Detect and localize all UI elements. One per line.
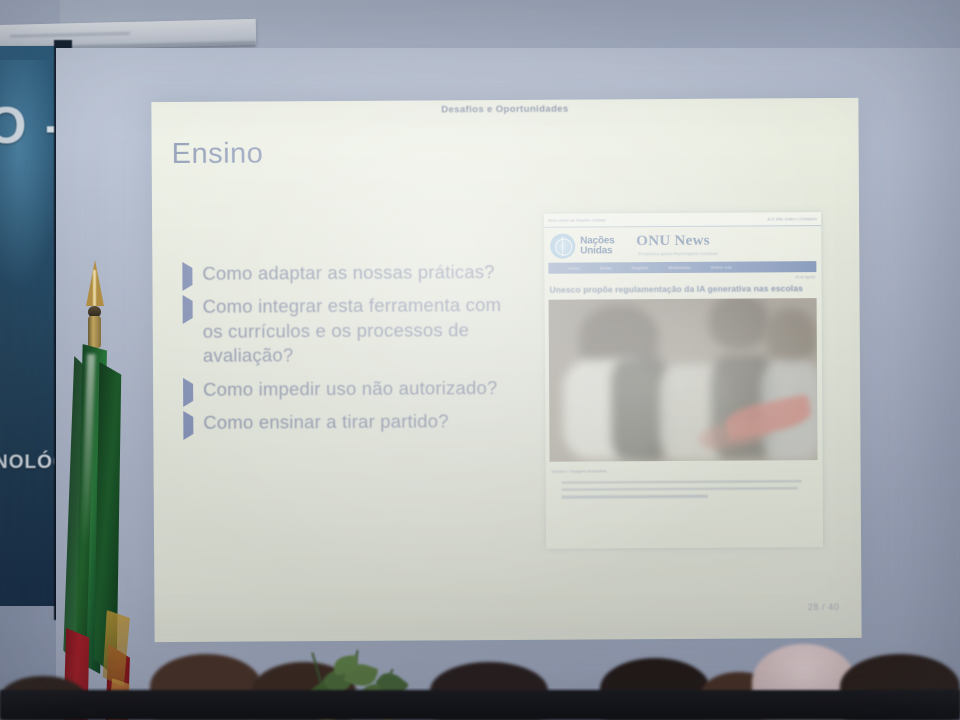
roller-seam	[10, 32, 130, 38]
bullet-text: Como integrar esta ferramenta com os cur…	[203, 293, 513, 368]
un-name-line2: Unidas	[580, 245, 612, 256]
news-site-title: ONU News	[636, 233, 710, 250]
conference-room-photograph: O - NOLÓGI Desafios e Oportunidades Ensi…	[0, 0, 960, 720]
body-line	[562, 480, 802, 484]
un-brand-block: Nações Unidas	[550, 233, 615, 258]
photo-grain	[549, 298, 818, 462]
news-site-tagline: Perspetiva global Reportagens humanas	[638, 251, 718, 256]
audience-seat-row	[0, 690, 960, 720]
news-headline: Unesco propõe regulamentação da IA gener…	[549, 283, 815, 295]
triangle-bullet-icon	[183, 383, 203, 401]
slide-header-text: Desafios e Oportunidades	[151, 102, 858, 117]
un-emblem-icon	[550, 234, 575, 259]
nav-item-inicio: Início	[568, 266, 579, 271]
students-in-classroom-photo	[549, 298, 818, 462]
flag-pole-ferrule	[88, 316, 101, 348]
triangle-bullet-icon	[182, 268, 202, 286]
bullet-text: Como adaptar as nossas práticas?	[202, 260, 494, 286]
bullet-text: Como impedir uso não autorizado?	[203, 376, 497, 402]
list-item: Como integrar esta ferramenta com os cur…	[183, 293, 513, 368]
audience-foreground	[0, 610, 960, 720]
body-line	[562, 487, 798, 491]
triangle-bullet-icon	[183, 417, 203, 435]
list-item: Como adaptar as nossas práticas?	[182, 260, 512, 286]
news-body-text	[562, 480, 802, 503]
finial-highlight	[93, 270, 96, 306]
nav-item-multimedia: Multimédia	[668, 265, 690, 270]
news-utility-links: A-Z Site Index | Contacto	[767, 216, 817, 221]
news-navigation-bar: Início Áreas Regiões Multimédia Sobre nó…	[548, 261, 816, 274]
triangle-bullet-icon	[183, 301, 203, 319]
body-line	[562, 495, 708, 498]
nav-item-sobre-nos: Sobre nós	[711, 265, 732, 270]
un-organization-name: Nações Unidas	[580, 236, 615, 256]
slide-bullet-list: Como adaptar as nossas práticas? Como in…	[182, 260, 513, 444]
slide-title: Ensino	[172, 137, 264, 171]
list-item: Como ensinar a tirar partido?	[183, 409, 513, 435]
presentation-slide: Desafios e Oportunidades Ensino Como ada…	[151, 98, 861, 642]
list-item: Como impedir uso não autorizado?	[183, 376, 513, 402]
news-welcome-link: Bem-vindo às Nações Unidas	[548, 217, 606, 222]
flower-stem	[311, 652, 322, 685]
nav-item-regioes: Regiões	[632, 265, 649, 270]
bullet-text: Como ensinar a tirar partido?	[203, 409, 449, 435]
news-photo-caption: Unesco / Imagem ilustrativa	[552, 468, 607, 473]
onu-news-screenshot: Bem-vindo às Nações Unidas A-Z Site Inde…	[544, 212, 823, 549]
news-date-line: 30 de agosto	[795, 275, 815, 279]
backdrop-glow	[0, 60, 62, 290]
nav-item-areas: Áreas	[600, 265, 612, 270]
